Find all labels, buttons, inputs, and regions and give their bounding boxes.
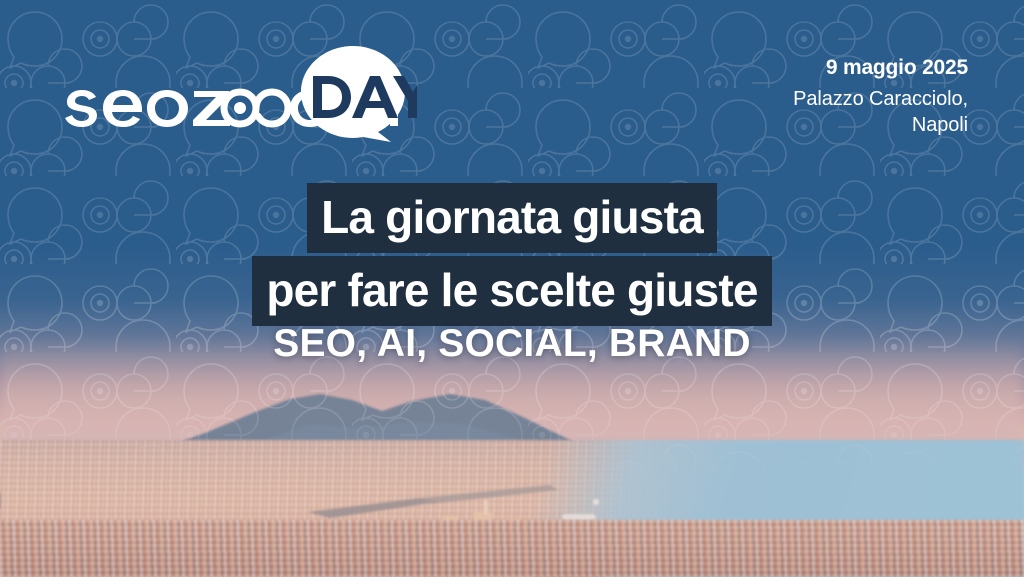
headline-line-2: per fare le scelte giuste (0, 256, 1024, 326)
subtitle: SEO, AI, SOCIAL, BRAND (0, 322, 1024, 366)
headline-line-1-text: La giornata giusta (307, 183, 717, 253)
event-info: 9 maggio 2025 Palazzo Caracciolo, Napoli (648, 54, 968, 139)
headline-line-2-text: per fare le scelte giuste (252, 256, 771, 326)
event-date: 9 maggio 2025 (648, 54, 968, 82)
seozoom-day-logo[interactable] (57, 38, 417, 146)
event-venue-line-1: Palazzo Caracciolo, (648, 86, 968, 112)
headline-line-1: La giornata giusta (0, 183, 1024, 253)
seozoom-day-banner: 9 maggio 2025 Palazzo Caracciolo, Napoli… (0, 0, 1024, 577)
event-venue-line-2: Napoli (648, 112, 968, 138)
zoom-infinity-icon (224, 92, 288, 124)
headline: La giornata giusta per fare le scelte gi… (0, 183, 1024, 326)
